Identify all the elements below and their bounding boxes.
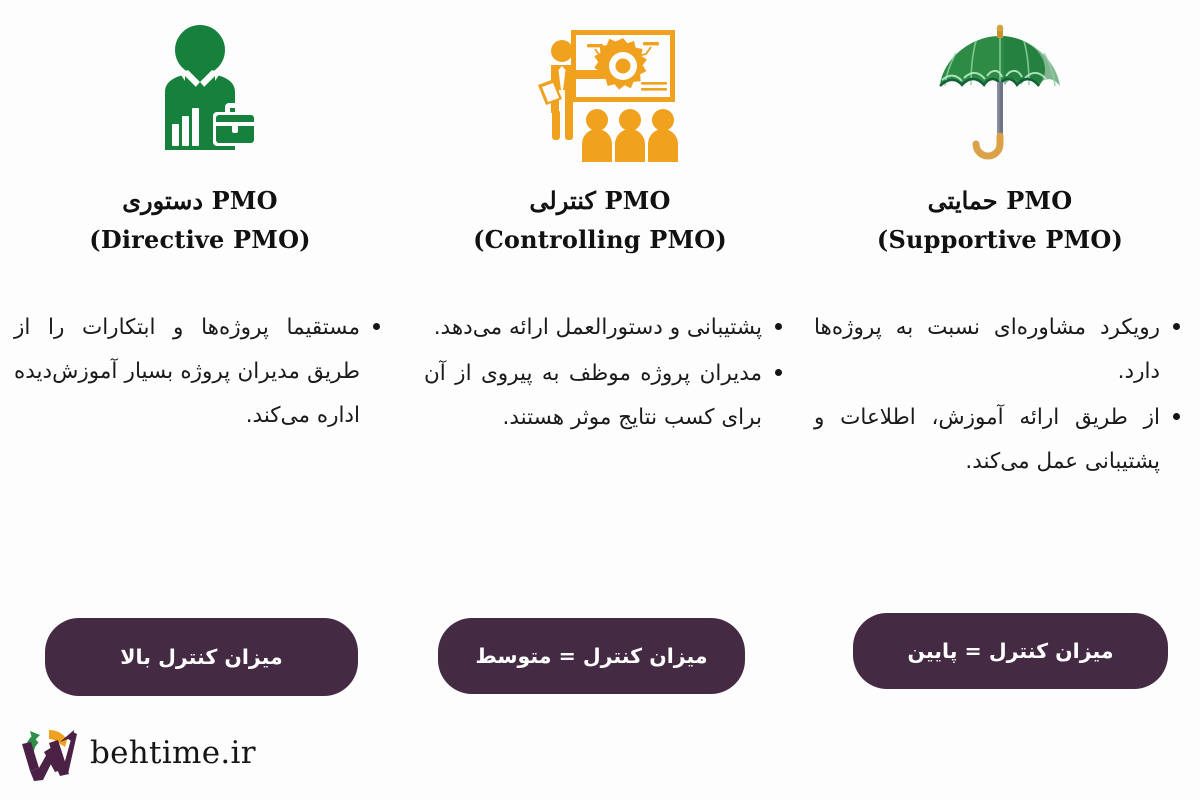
badge-label: میزان کنترل = متوسط bbox=[475, 644, 707, 668]
title-en-controlling: (Controlling PMO) bbox=[473, 221, 727, 260]
bullet-block-supportive: رویکرد مشاوره‌ای نسبت به پروژه‌ها دارد. … bbox=[814, 306, 1182, 485]
bullet-list-supportive: رویکرد مشاوره‌ای نسبت به پروژه‌ها دارد. … bbox=[814, 306, 1182, 483]
title-fa-controlling: PMO کنترلی bbox=[473, 182, 727, 221]
status-badge-control-low: میزان کنترل = پایین bbox=[853, 613, 1168, 689]
umbrella-icon bbox=[800, 0, 1200, 180]
footer-branding: behtime.ir bbox=[16, 722, 256, 784]
column-supportive-pmo: PMO حمایتی (Supportive PMO) رویکرد مشاور… bbox=[800, 0, 1200, 800]
title-en-directive: (Directive PMO) bbox=[89, 221, 310, 260]
presenter-whiteboard-gear-audience-icon bbox=[400, 0, 800, 180]
bullet-block-directive: مستقیما پروژه‌ها و ابتکارات را از طریق م… bbox=[14, 306, 382, 440]
bullet-block-controlling: پشتیبانی و دستورالعمل ارائه می‌دهد. مدیر… bbox=[424, 306, 784, 442]
page-title-supportive: PMO حمایتی (Supportive PMO) bbox=[877, 182, 1123, 260]
badge-label: میزان کنترل = پایین bbox=[907, 639, 1113, 663]
businessman-with-briefcase-and-chart-icon bbox=[0, 0, 400, 180]
list-item: پشتیبانی و دستورالعمل ارائه می‌دهد. bbox=[424, 306, 784, 350]
column-directive-pmo: PMO دستوری (Directive PMO) مستقیما پروژه… bbox=[0, 0, 400, 800]
page-title-controlling: PMO کنترلی (Controlling PMO) bbox=[473, 182, 727, 260]
title-fa-directive: PMO دستوری bbox=[89, 182, 310, 221]
title-en-supportive: (Supportive PMO) bbox=[877, 221, 1123, 260]
bullet-list-controlling: پشتیبانی و دستورالعمل ارائه می‌دهد. مدیر… bbox=[424, 306, 784, 440]
badge-label: میزان کنترل بالا bbox=[120, 645, 282, 669]
behtime-w-logo bbox=[16, 722, 82, 784]
page-title-directive: PMO دستوری (Directive PMO) bbox=[89, 182, 310, 260]
pmo-types-infographic: PMO دستوری (Directive PMO) مستقیما پروژه… bbox=[0, 0, 1200, 800]
title-fa-supportive: PMO حمایتی bbox=[877, 182, 1123, 221]
list-item: رویکرد مشاوره‌ای نسبت به پروژه‌ها دارد. bbox=[814, 306, 1182, 394]
list-item: مدیران پروژه موظف به پیروی از آن برای کس… bbox=[424, 352, 784, 440]
status-badge-control-high: میزان کنترل بالا bbox=[45, 618, 358, 696]
list-item: مستقیما پروژه‌ها و ابتکارات را از طریق م… bbox=[14, 306, 382, 438]
status-badge-control-medium: میزان کنترل = متوسط bbox=[438, 618, 745, 694]
column-controlling-pmo: PMO کنترلی (Controlling PMO) پشتیبانی و … bbox=[400, 0, 800, 800]
list-item: از طریق ارائه آموزش، اطلاعات و پشتیبانی … bbox=[814, 396, 1182, 484]
site-label: behtime.ir bbox=[90, 735, 256, 771]
bullet-list-directive: مستقیما پروژه‌ها و ابتکارات را از طریق م… bbox=[14, 306, 382, 438]
